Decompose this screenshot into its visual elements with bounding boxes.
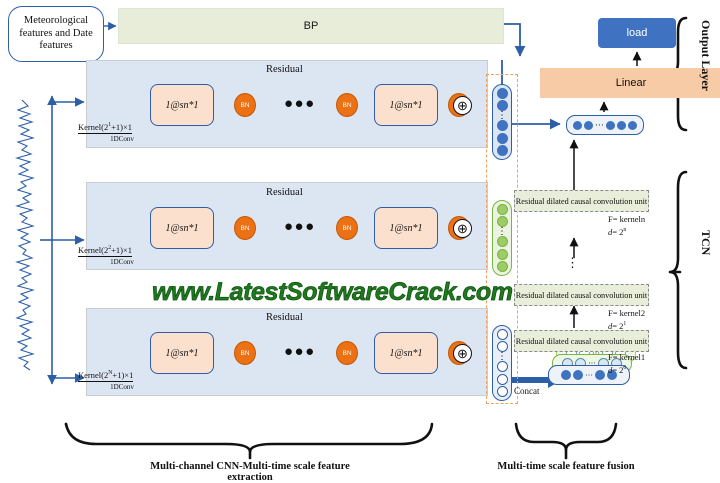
- tcn-side-label: TCN: [698, 230, 713, 255]
- sum-node-1: ⊕: [453, 96, 472, 115]
- feature-column-1[interactable]: ⋮: [492, 84, 512, 160]
- output-node-2: [584, 121, 593, 130]
- kernel-label-1: Kernel(21+1)×1: [78, 122, 132, 132]
- conv-type-label-3: 1DConv: [92, 383, 152, 391]
- tcn-stack-ellipsis: ⋮: [566, 258, 579, 267]
- load-output-label: load: [627, 27, 648, 39]
- channel-3-ellipsis: ●●●: [284, 347, 316, 357]
- bn-block-3-b-label: BN: [342, 350, 351, 357]
- sum-node-3-symbol: ⊕: [457, 347, 468, 360]
- tcn-deq-1: = 2: [612, 365, 623, 375]
- bn-block-2-b-label: BN: [342, 225, 351, 232]
- conv-block-2-left-label: 1@sn*1: [165, 223, 198, 234]
- output-row-dots: ···: [595, 123, 604, 127]
- kernel-prefix-1: Kernel: [78, 122, 101, 132]
- sum-node-2: ⊕: [453, 219, 472, 238]
- output-layer-side-label: Output Layer: [698, 20, 713, 91]
- conv-block-1-right[interactable]: 1@sn*1: [374, 84, 438, 126]
- conv-type-label-1: 1DConv: [92, 135, 152, 143]
- output-node-1: [573, 121, 582, 130]
- conv-block-1-left[interactable]: 1@sn*1: [150, 84, 214, 126]
- input-bus: [40, 96, 84, 384]
- tcn-note-n: F= kerneln d= 2n: [608, 214, 645, 238]
- output-node-3: [606, 121, 615, 130]
- feature-column-2[interactable]: ⋮: [492, 200, 512, 276]
- tcn-filter-n: F= kerneln: [608, 214, 645, 225]
- bn-block-1-b[interactable]: BN: [336, 93, 358, 117]
- concat-label: Concat: [514, 386, 540, 396]
- tcn-unit-1[interactable]: Residual dilated causal convolution unit: [514, 330, 649, 352]
- bn-block-1-b-label: BN: [342, 102, 351, 109]
- tcn-filter-2: F= kernel2: [608, 308, 645, 319]
- tcn-note-1: F= kernel1 d= 20: [608, 352, 645, 376]
- sum-node-3: ⊕: [453, 344, 472, 363]
- output-node-5: [628, 121, 637, 130]
- bn-block-3-a-label: BN: [240, 350, 249, 357]
- bp-block[interactable]: BP: [118, 8, 504, 44]
- tcn-dexp-2: 1: [623, 321, 626, 327]
- bn-block-1-a-label: BN: [240, 102, 249, 109]
- tcn-deq-n: = 2: [612, 227, 623, 237]
- tcn-dexp-1: 0: [623, 365, 626, 371]
- bottom-braces: [66, 424, 616, 458]
- linear-layer-label: Linear: [616, 77, 647, 89]
- tcn-filter-1: F= kernel1: [608, 352, 645, 363]
- meteo-input-label: Meteorological features and Date feature…: [12, 15, 100, 53]
- bn-block-1-a[interactable]: BN: [234, 93, 256, 117]
- kernel-label-3: Kernel(2N+1)×1: [78, 370, 133, 380]
- conv-type-label-2: 1DConv: [92, 258, 152, 266]
- bn-block-3-a[interactable]: BN: [234, 341, 256, 365]
- kernel-prefix-2: Kernel: [78, 245, 101, 255]
- channel-2-ellipsis: ●●●: [284, 222, 316, 232]
- conv-block-1-right-label: 1@sn*1: [389, 100, 422, 111]
- bp-label: BP: [304, 20, 319, 32]
- tcn-unit-1-label: Residual dilated causal convolution unit: [516, 337, 647, 346]
- kernel-close-1: +1)×1: [111, 122, 132, 132]
- caption-feature-fusion: Multi-time scale feature fusion: [486, 461, 646, 472]
- meteo-input-node[interactable]: Meteorological features and Date feature…: [8, 6, 104, 62]
- conv-block-2-right-label: 1@sn*1: [389, 223, 422, 234]
- residual-label-3: Residual: [266, 312, 303, 323]
- bn-block-2-a-label: BN: [240, 225, 249, 232]
- conv-block-3-left-label: 1@sn*1: [165, 348, 198, 359]
- conv-block-3-left[interactable]: 1@sn*1: [150, 332, 214, 374]
- input-waveform: [17, 100, 33, 370]
- output-feature-row[interactable]: ···: [566, 115, 644, 135]
- output-node-4: [617, 121, 626, 130]
- feature-column-1-dots: ⋮: [497, 113, 507, 119]
- tcn-unit-2[interactable]: Residual dilated causal convolution unit: [514, 284, 649, 306]
- conv-block-3-right-label: 1@sn*1: [389, 348, 422, 359]
- tcn-unit-n[interactable]: Residual dilated causal convolution unit: [514, 190, 649, 212]
- linear-layer-block[interactable]: Linear: [540, 68, 720, 98]
- kernel-close-3: +1)×1: [112, 370, 133, 380]
- channel-1-ellipsis: ●●●: [284, 99, 316, 109]
- kernel-close-2: +1)×1: [111, 245, 132, 255]
- conv-block-2-left[interactable]: 1@sn*1: [150, 207, 214, 249]
- bn-block-2-a[interactable]: BN: [234, 216, 256, 240]
- feature-column-3-dots: ⋮: [497, 354, 507, 360]
- kernel-label-2: Kernel(22+1)×1: [78, 245, 132, 255]
- sum-node-1-symbol: ⊕: [457, 99, 468, 112]
- tcn-unit-n-label: Residual dilated causal convolution unit: [516, 197, 647, 206]
- fusion-vertical-ellipsis: ⋮: [494, 288, 510, 297]
- conv-block-2-right[interactable]: 1@sn*1: [374, 207, 438, 249]
- tcn-note-2: F= kernel2 d= 21: [608, 308, 645, 332]
- feature-column-2-dots: ⋮: [497, 229, 507, 235]
- bn-block-2-b[interactable]: BN: [336, 216, 358, 240]
- conv-block-3-right[interactable]: 1@sn*1: [374, 332, 438, 374]
- watermark-text: www.LatestSoftwareCrack.com: [152, 278, 472, 307]
- tcn-dexp-n: n: [623, 227, 626, 233]
- tcn-unit-2-label: Residual dilated causal convolution unit: [516, 291, 647, 300]
- feature-column-3[interactable]: ⋮: [492, 325, 512, 401]
- residual-label-1: Residual: [266, 64, 303, 75]
- load-output-block[interactable]: load: [598, 18, 676, 48]
- conv-block-1-left-label: 1@sn*1: [165, 100, 198, 111]
- residual-label-2: Residual: [266, 187, 303, 198]
- diagram-canvas: Meteorological features and Date feature…: [0, 0, 720, 480]
- sum-node-2-symbol: ⊕: [457, 222, 468, 235]
- kernel-prefix-3: Kernel: [78, 370, 101, 380]
- bn-block-3-b[interactable]: BN: [336, 341, 358, 365]
